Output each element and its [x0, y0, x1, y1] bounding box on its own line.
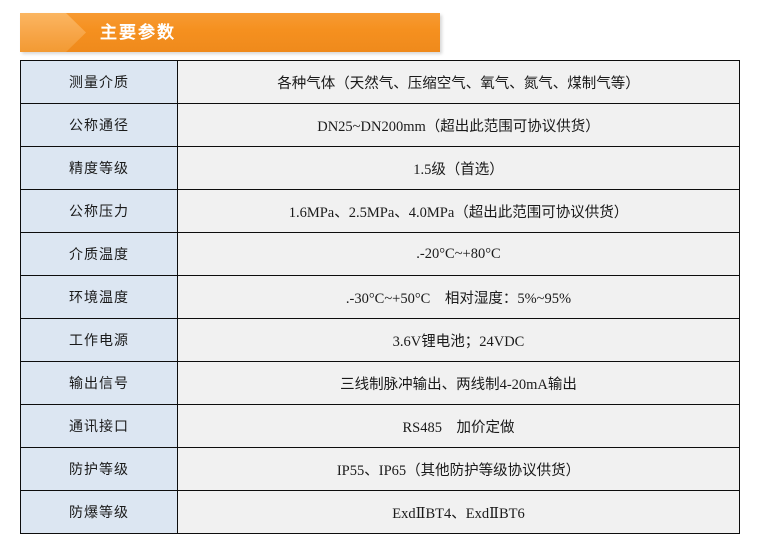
row-value: .-20°C~+80°C	[178, 233, 740, 276]
row-value: RS485 加价定做	[178, 405, 740, 448]
specification-table: 测量介质 各种气体（天然气、压缩空气、氧气、氮气、煤制气等） 公称通径 DN25…	[20, 60, 740, 534]
row-label: 介质温度	[21, 233, 178, 276]
table-row: 输出信号 三线制脉冲输出、两线制4-20mA输出	[21, 362, 740, 405]
table-row: 通讯接口 RS485 加价定做	[21, 405, 740, 448]
table-row: 测量介质 各种气体（天然气、压缩空气、氧气、氮气、煤制气等）	[21, 61, 740, 104]
table-row: 环境温度 .-30°C~+50°C 相对湿度：5%~95%	[21, 276, 740, 319]
section-title: 主要参数	[100, 13, 176, 52]
table-row: 介质温度 .-20°C~+80°C	[21, 233, 740, 276]
table-row: 防护等级 IP55、IP65（其他防护等级协议供货）	[21, 448, 740, 491]
row-label: 公称通径	[21, 104, 178, 147]
table-row: 工作电源 3.6V锂电池；24VDC	[21, 319, 740, 362]
row-label: 输出信号	[21, 362, 178, 405]
row-value: 1.5级（首选）	[178, 147, 740, 190]
chevron-right-icon	[20, 13, 86, 52]
row-value: .-30°C~+50°C 相对湿度：5%~95%	[178, 276, 740, 319]
row-value: 各种气体（天然气、压缩空气、氧气、氮气、煤制气等）	[178, 61, 740, 104]
row-label: 精度等级	[21, 147, 178, 190]
page-root: 主要参数 测量介质 各种气体（天然气、压缩空气、氧气、氮气、煤制气等） 公称通径…	[0, 0, 762, 557]
section-banner: 主要参数	[20, 13, 440, 52]
table-row: 公称压力 1.6MPa、2.5MPa、4.0MPa（超出此范围可协议供货）	[21, 190, 740, 233]
table-row: 精度等级 1.5级（首选）	[21, 147, 740, 190]
row-label: 环境温度	[21, 276, 178, 319]
table-row: 防爆等级 ExdⅡBT4、ExdⅡBT6	[21, 491, 740, 534]
table-row: 公称通径 DN25~DN200mm（超出此范围可协议供货）	[21, 104, 740, 147]
row-value: 3.6V锂电池；24VDC	[178, 319, 740, 362]
row-value: IP55、IP65（其他防护等级协议供货）	[178, 448, 740, 491]
row-label: 公称压力	[21, 190, 178, 233]
row-label: 防爆等级	[21, 491, 178, 534]
table-body: 测量介质 各种气体（天然气、压缩空气、氧气、氮气、煤制气等） 公称通径 DN25…	[21, 61, 740, 534]
row-value: ExdⅡBT4、ExdⅡBT6	[178, 491, 740, 534]
row-value: 三线制脉冲输出、两线制4-20mA输出	[178, 362, 740, 405]
row-label: 测量介质	[21, 61, 178, 104]
row-label: 工作电源	[21, 319, 178, 362]
row-value: DN25~DN200mm（超出此范围可协议供货）	[178, 104, 740, 147]
row-label: 防护等级	[21, 448, 178, 491]
row-label: 通讯接口	[21, 405, 178, 448]
row-value: 1.6MPa、2.5MPa、4.0MPa（超出此范围可协议供货）	[178, 190, 740, 233]
